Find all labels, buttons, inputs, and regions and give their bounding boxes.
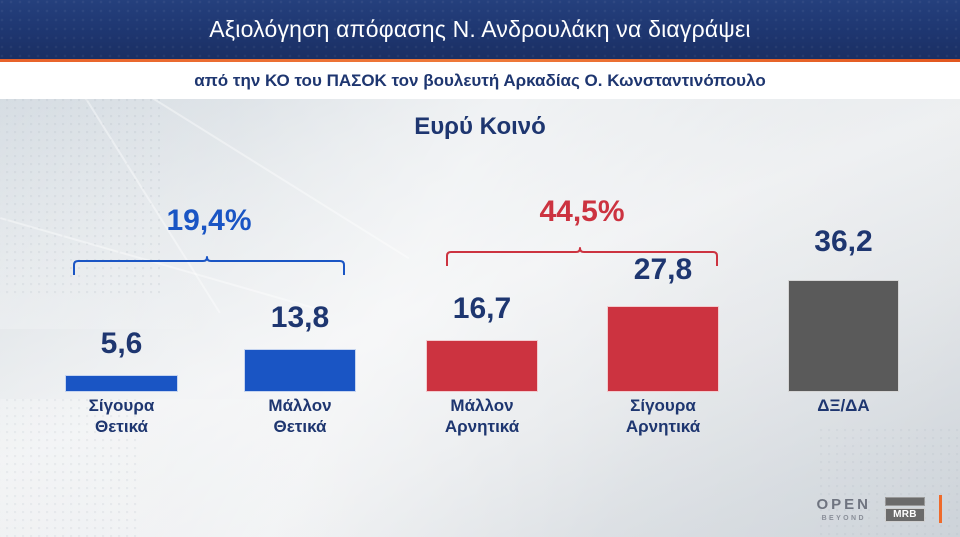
bar-label-2-line2: Θετικά — [244, 416, 356, 437]
bar-label-4-line2: Αρνητικά — [607, 416, 719, 437]
chart-subtitle: Ευρύ Κοινό — [0, 113, 960, 141]
bracket-label-positive: 19,4% — [72, 204, 346, 238]
header-title-line1: Αξιολόγηση απόφασης Ν. Ανδρουλάκη να δια… — [0, 0, 960, 59]
bracket-label-negative: 44,5% — [445, 195, 719, 229]
bracket-negative — [445, 246, 719, 266]
header-title-line2: από την ΚΟ του ΠΑΣΟΚ τον βουλευτή Αρκαδί… — [0, 62, 960, 99]
bar-label-1-line2: Θετικά — [65, 416, 178, 437]
footer-logos: OPEN BEYOND MRB — [816, 495, 942, 523]
open-beyond-logo: OPEN BEYOND — [816, 497, 871, 522]
bar-label-2-line1: Μάλλον — [244, 395, 356, 416]
bar-group-2: 13,8 Μάλλον Θετικά — [244, 275, 356, 392]
bar-group-5: 36,2 ΔΞ/ΔΑ — [788, 275, 899, 392]
bar-value-2: 13,8 — [244, 301, 356, 335]
mrb-logo-top-bar — [885, 497, 925, 506]
bar-value-3: 16,7 — [426, 292, 538, 326]
bar-label-3-line1: Μάλλον — [426, 395, 538, 416]
open-logo-word: OPEN — [816, 497, 871, 512]
bar-rect-1 — [65, 375, 178, 392]
bar-group-1: 5,6 Σίγουρα Θετικά — [65, 275, 178, 392]
bar-group-3: 16,7 Μάλλον Αρνητικά — [426, 275, 538, 392]
poll-chart-screenshot: Αξιολόγηση απόφασης Ν. Ανδρουλάκη να δια… — [0, 0, 960, 537]
bar-rect-2 — [244, 349, 356, 392]
beyond-logo-word: BEYOND — [822, 515, 866, 522]
orange-accent-tick — [939, 495, 942, 523]
bar-value-1: 5,6 — [65, 327, 178, 361]
bracket-positive — [72, 255, 346, 275]
bar-rect-4 — [607, 306, 719, 392]
bar-label-3-line2: Αρνητικά — [426, 416, 538, 437]
bar-label-5-line1: ΔΞ/ΔΑ — [788, 395, 899, 416]
background-sheen-bottom — [0, 399, 420, 537]
mrb-logo-word: MRB — [885, 508, 925, 522]
chart-stage: Ευρύ Κοινό 19,4% 44,5% 5,6 Σίγουρα Θετικ… — [0, 99, 960, 537]
bar-value-5: 36,2 — [788, 225, 899, 259]
mrb-logo: MRB — [885, 497, 925, 522]
bar-group-4: 27,8 Σίγουρα Αρνητικά — [607, 275, 719, 392]
bar-rect-3 — [426, 340, 538, 392]
bar-label-4-line1: Σίγουρα — [607, 395, 719, 416]
bar-rect-5 — [788, 280, 899, 392]
bar-label-1-line1: Σίγουρα — [65, 395, 178, 416]
